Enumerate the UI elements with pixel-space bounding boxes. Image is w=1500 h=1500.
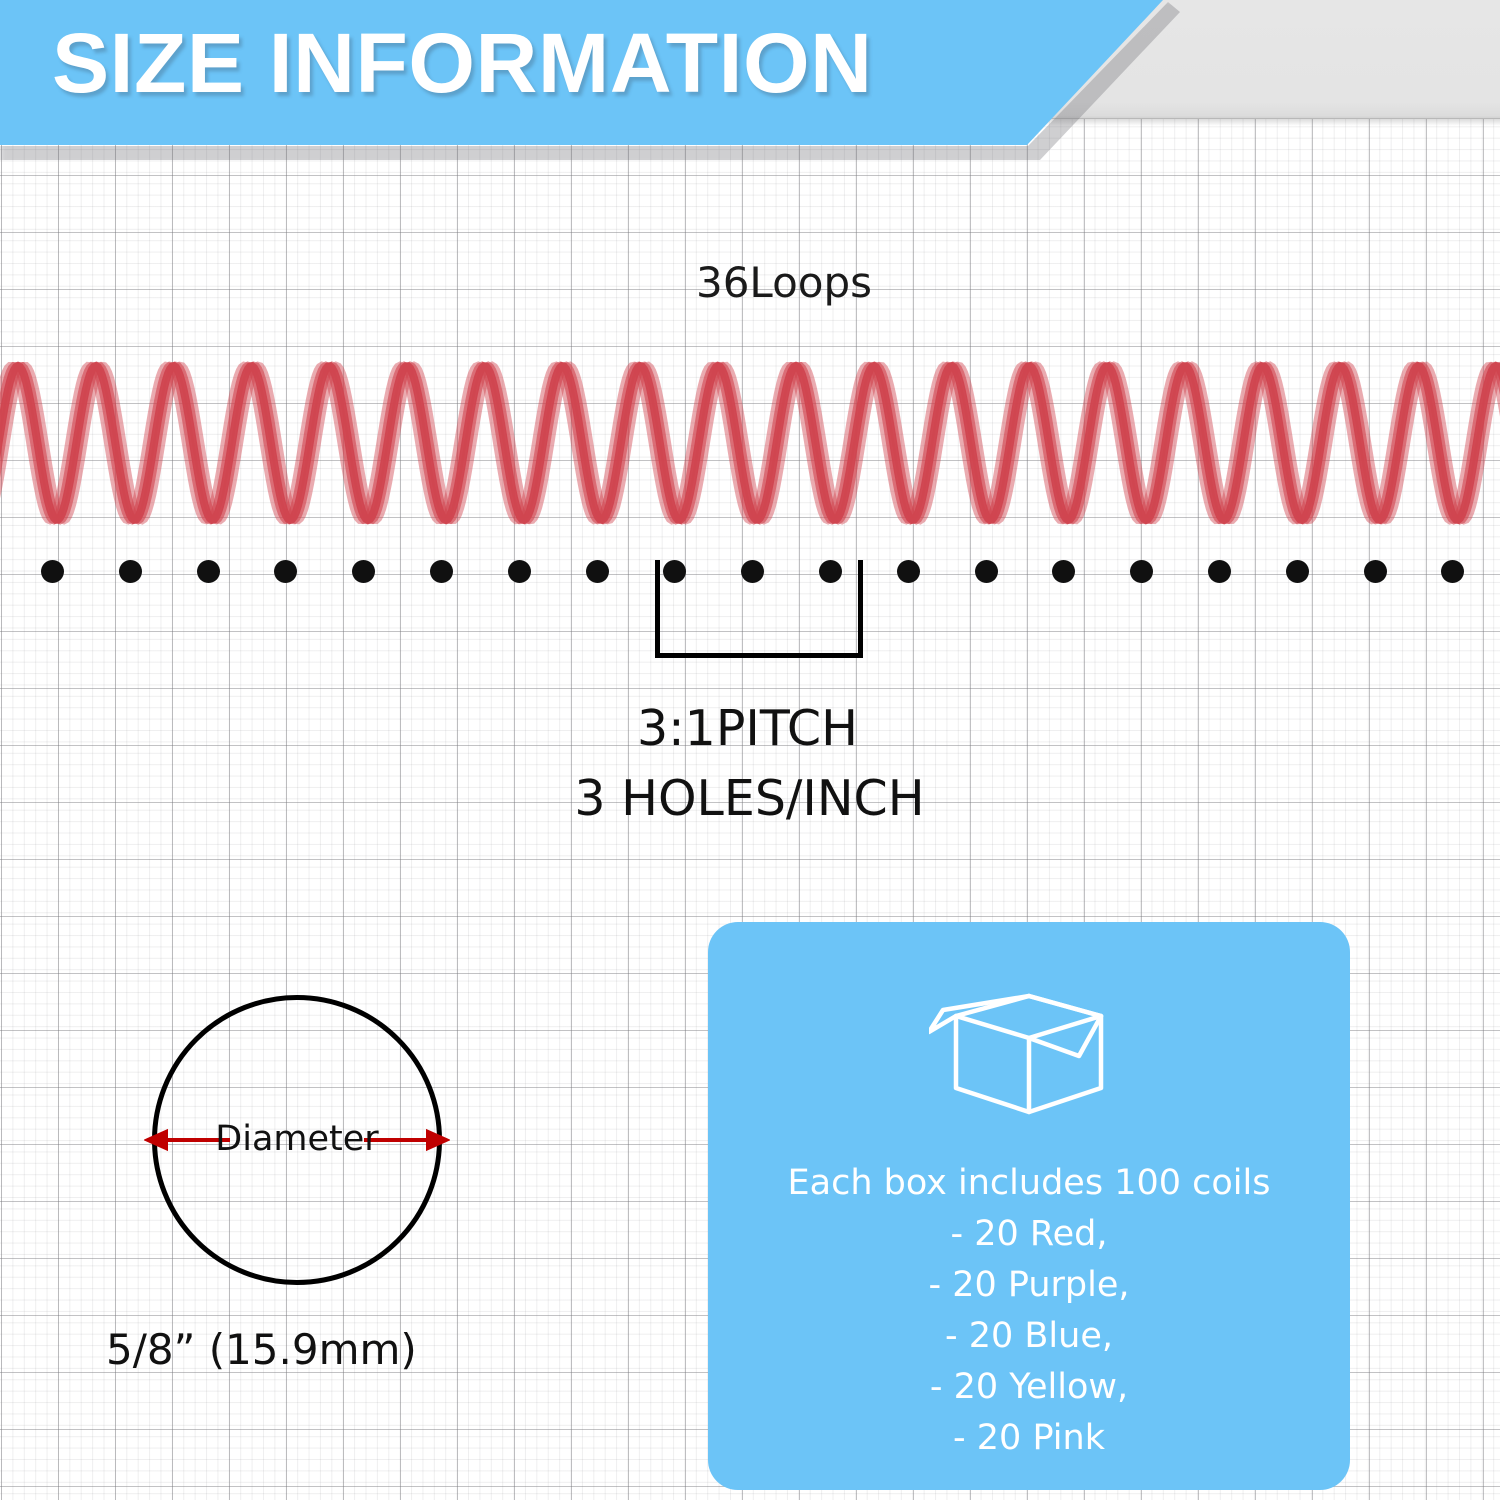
pitch-bracket (655, 560, 863, 660)
punch-hole (1286, 560, 1309, 583)
box-contents-line: - 20 Purple, (708, 1260, 1350, 1311)
punch-hole (197, 560, 220, 583)
box-contents-line: Each box includes 100 coils (708, 1158, 1350, 1209)
punch-hole (1441, 560, 1464, 583)
diameter-caption: 5/8” (15.9mm) (106, 1325, 506, 1374)
punch-hole (975, 560, 998, 583)
pitch-ratio-label: 3:1PITCH (0, 700, 1500, 757)
punch-hole (508, 560, 531, 583)
box-contents-text: Each box includes 100 coils- 20 Red,- 20… (708, 1158, 1350, 1465)
box-contents-line: - 20 Pink (708, 1413, 1350, 1464)
box-contents-card: Each box includes 100 coils- 20 Red,- 20… (708, 922, 1350, 1490)
punch-hole (1208, 560, 1231, 583)
size-information-infographic: SIZE INFORMATION 36Loops 3:1PITCH (0, 0, 1500, 1500)
punch-hole (1052, 560, 1075, 583)
holes-per-inch-label: 3 HOLES/INCH (0, 770, 1500, 827)
box-contents-line: - 20 Blue, (708, 1311, 1350, 1362)
punch-hole (352, 560, 375, 583)
holes-per-inch-text: 3 HOLES/INCH (574, 770, 924, 827)
punch-hole (586, 560, 609, 583)
punch-hole (1364, 560, 1387, 583)
box-contents-line: - 20 Red, (708, 1209, 1350, 1260)
diameter-diagram: Diameter (152, 995, 442, 1285)
open-box-icon (929, 970, 1129, 1120)
punch-hole (41, 560, 64, 583)
box-contents-line: - 20 Yellow, (708, 1362, 1350, 1413)
punch-hole (119, 560, 142, 583)
diameter-label: Diameter (152, 1119, 442, 1159)
punch-hole (274, 560, 297, 583)
punch-hole (1130, 560, 1153, 583)
punch-hole (430, 560, 453, 583)
pitch-ratio-text: 3:1PITCH (637, 700, 858, 757)
punch-hole (897, 560, 920, 583)
